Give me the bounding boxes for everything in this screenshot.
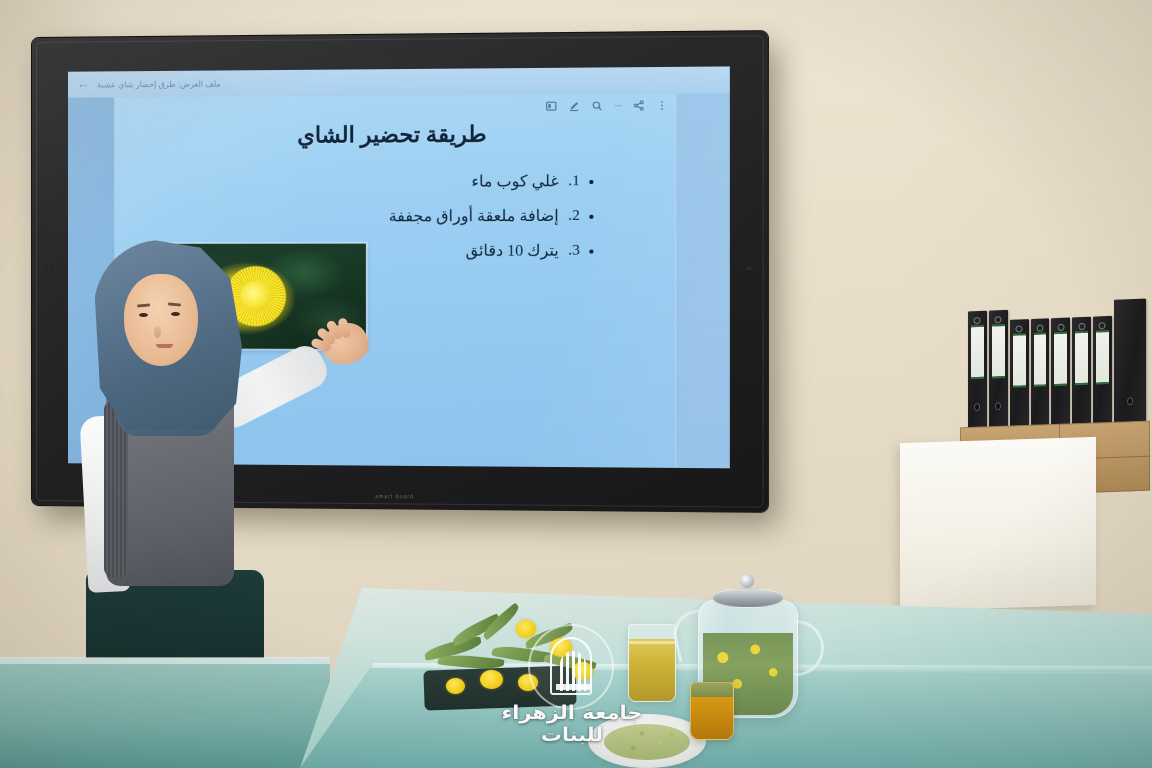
present-icon[interactable] [546,100,557,111]
binder [1072,317,1091,430]
slide-title: طريقة تحضير الشاي [114,120,675,149]
floor [0,658,330,768]
binder [1093,316,1112,429]
bullet-text: يترك 10 دقائق [466,241,559,260]
binder-shelf [968,305,1146,434]
tea-surface [629,641,675,644]
honey-jar [690,682,734,740]
bullet-text: إضافة ملعقة أوراق مجففة [389,207,559,227]
toolbar-divider [614,105,621,106]
bullet-number: 1. [568,173,580,190]
annotate-pen-icon[interactable] [568,100,579,111]
app-right-rail [675,93,730,468]
search-icon[interactable] [591,100,602,111]
bullet-number: 3. [568,242,580,259]
bullet-dot-icon [589,214,593,218]
presenter-mouth [156,344,173,348]
share-icon[interactable] [633,100,645,111]
more-vertical-icon[interactable] [656,100,668,111]
teapot-lid [712,588,784,608]
bullet-number: 2. [568,208,580,225]
slide-bullet-item: 1. غلي كوب ماء [225,172,593,193]
presentation-room-scene: ← ملف العرض: طرق إحضار شاي عشبة [0,0,1152,768]
slide-bullet-item: 2. إضافة ملعقة أوراق مجففة [225,207,593,227]
presenter-nose [154,326,161,338]
app-header-title: ملف العرض: طرق إحضار شاي عشبة [97,79,221,89]
dandelion-plants [420,608,610,700]
binder [1010,319,1029,432]
tea-liquid [629,639,675,701]
teapot-knob [740,574,754,588]
presenter-face [124,274,198,366]
binder [989,310,1008,433]
back-arrow-icon[interactable]: ← [77,79,91,90]
binder [1051,317,1070,430]
ir-sensor-left [45,266,54,271]
binder [968,311,987,434]
bullet-dot-icon [589,179,593,183]
display-brand-plate: smart board [375,494,414,500]
bullet-text: غلي كوب ماء [471,172,558,192]
binder-box [1114,299,1146,428]
dried-herbs [604,724,690,760]
tea-glass [628,624,676,702]
binder [1031,318,1050,431]
ir-sensor-right [745,266,755,271]
bullet-dot-icon [589,249,593,253]
honey-jar-lid [690,683,734,697]
leaning-white-panel [900,437,1096,611]
wall-skirting [0,657,330,664]
slide-toolbar [546,100,668,112]
